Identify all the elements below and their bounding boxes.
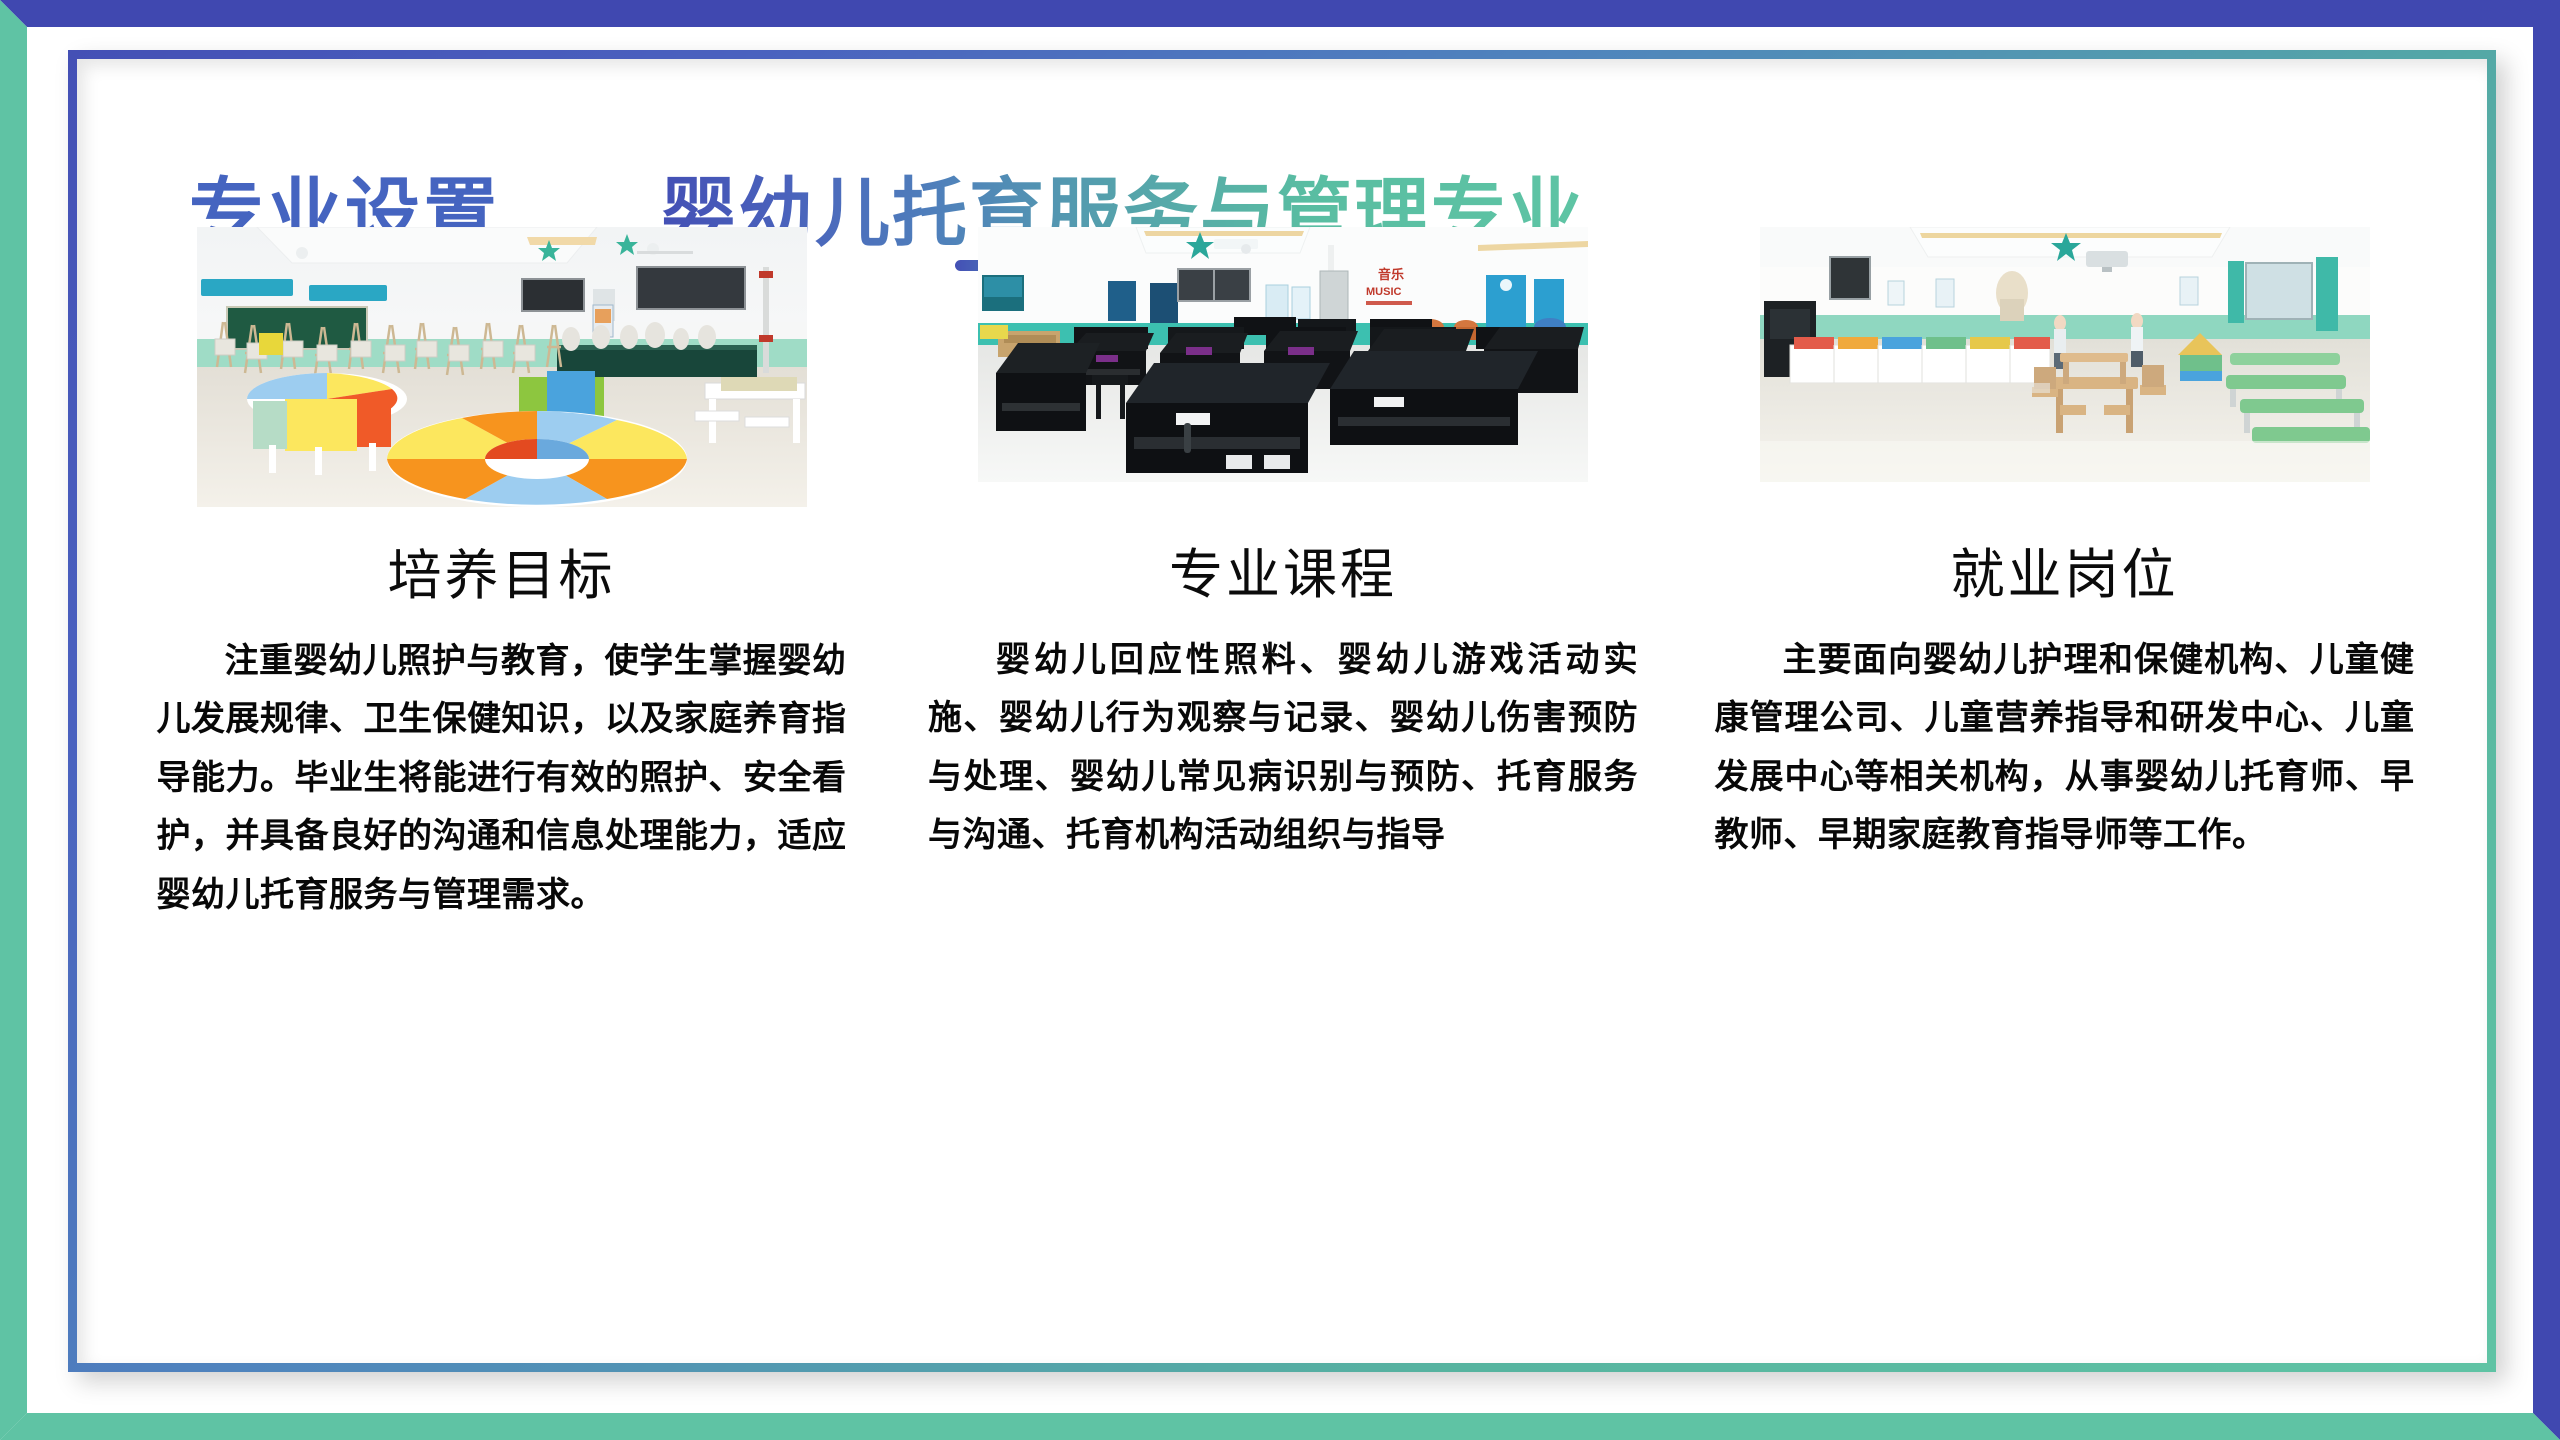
column-training-goals: 培养目标 注重婴幼儿照护与教育，使学生掌握婴幼儿发展规律、卫生保健知识，以及家庭… xyxy=(129,227,874,924)
slide-root: 专业设置 婴幼儿托育服务与管理专业 xyxy=(0,0,2560,1440)
column-body-training-goals: 注重婴幼儿照护与教育，使学生掌握婴幼儿发展规律、卫生保健知识，以及家庭养育指导能… xyxy=(157,632,847,924)
svg-text:音乐: 音乐 xyxy=(1378,267,1404,282)
slide-content: 专业设置 婴幼儿托育服务与管理专业 xyxy=(77,59,2487,1363)
column-title-professional-courses: 专业课程 xyxy=(1169,530,1397,609)
classroom-colorful-tables-photo xyxy=(197,227,807,507)
svg-text:MUSIC: MUSIC xyxy=(1366,286,1402,298)
columns-container: 培养目标 注重婴幼儿照护与教育，使学生掌握婴幼儿发展规律、卫生保健知识，以及家庭… xyxy=(77,227,2487,924)
nursery-room-photo xyxy=(1760,227,2370,482)
column-body-employment-positions: 主要面向婴幼儿护理和保健机构、儿童健康管理公司、儿童营养指导和研发中心、儿童发展… xyxy=(1715,631,2415,865)
column-employment-positions: 就业岗位 主要面向婴幼儿护理和保健机构、儿童健康管理公司、儿童营养指导和研发中心… xyxy=(1692,227,2437,924)
column-title-training-goals: 培养目标 xyxy=(388,531,616,610)
piano-classroom-photo: 音乐 MUSIC xyxy=(978,227,1588,482)
column-title-employment-positions: 就业岗位 xyxy=(1951,530,2179,609)
column-professional-courses: 音乐 MUSIC xyxy=(911,227,1656,924)
inner-gradient-frame: 专业设置 婴幼儿托育服务与管理专业 xyxy=(68,50,2496,1372)
inner-frame-fill: 专业设置 婴幼儿托育服务与管理专业 xyxy=(77,59,2487,1363)
column-body-professional-courses: 婴幼儿回应性照料、婴幼儿游戏活动实施、婴幼儿行为观察与记录、婴幼儿伤害预防与处理… xyxy=(928,631,1638,865)
